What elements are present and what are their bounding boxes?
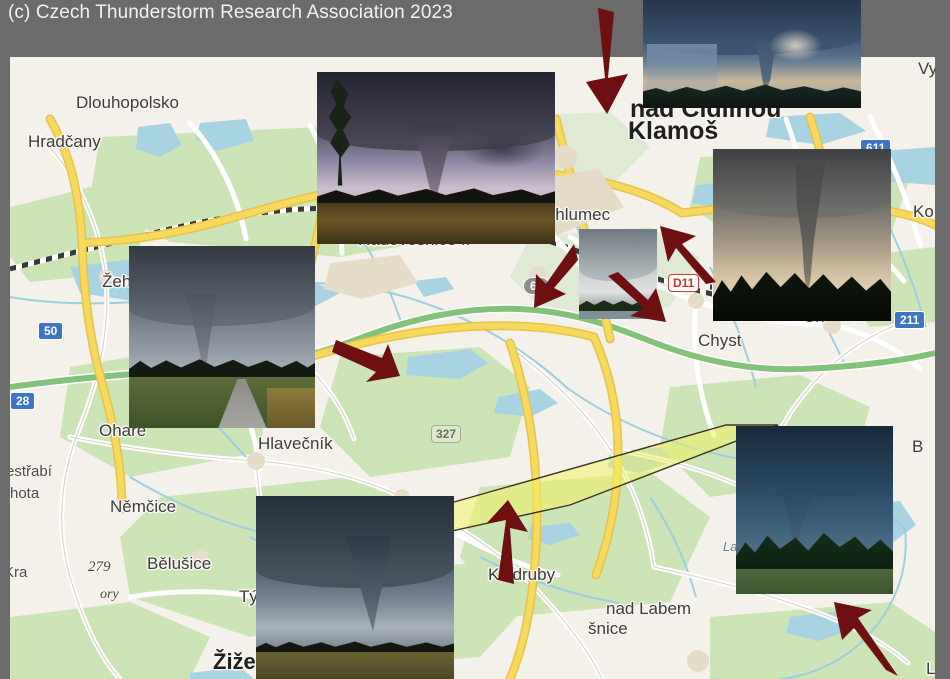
photo-funnel-zizelice[interactable] [317,72,555,244]
photo-cloud-wisp [460,130,546,168]
arrow-up-hlavecnik [478,498,534,586]
arrow-right-radovesnice [330,338,402,388]
photo-funnel-road[interactable] [129,246,315,428]
photo-tornado-chyst[interactable] [713,149,891,321]
photo-field [256,652,454,679]
photo-bright-gap [769,29,821,62]
photo-wallcloud-tynec[interactable] [256,496,454,679]
arrow-up-right-kladruby [828,598,900,678]
arrow-down-chlumec [580,4,640,120]
photo-meadow [736,569,893,594]
copyright-credit: (c) Czech Thunderstorm Research Associat… [8,2,453,24]
arrow-down-right-d11 [604,272,670,328]
photo-funnel-kladruby[interactable] [736,426,893,594]
arrow-down-left-zizelice [528,240,578,312]
photo-rain-shaft [647,44,717,90]
screenshot-root: (c) Czech Thunderstorm Research Associat… [0,0,950,679]
photo-tornado-chlumec-top[interactable] [643,0,861,108]
photo-cloud-base [129,246,315,326]
photo-field [317,203,555,244]
photo-roadside-grass [267,388,315,428]
